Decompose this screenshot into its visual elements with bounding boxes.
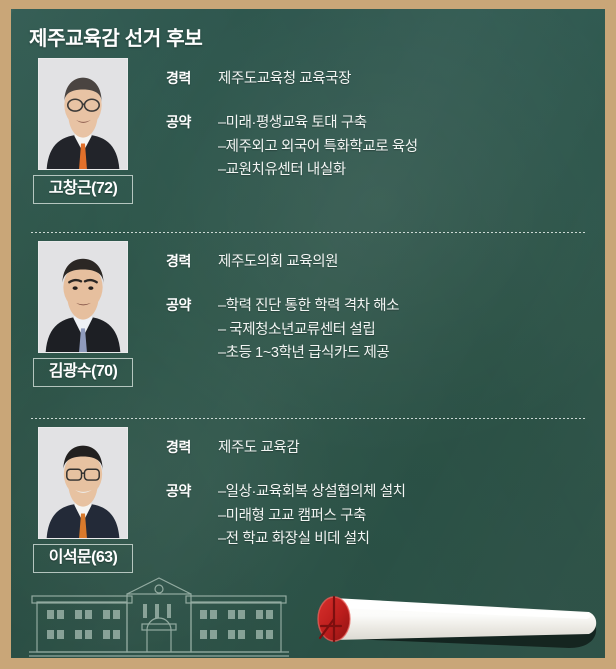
pledge-row: 공약 –일상·교육회복 상설협의체 설치 –미래형 고교 캠퍼스 구축 –전 학…	[166, 481, 589, 551]
pledge-list: –미래·평생교육 토대 구축 –제주외고 외국어 특화학교로 육성 –교원치유센…	[218, 112, 418, 182]
candidate-photo	[38, 58, 128, 170]
candidate-photo	[38, 427, 128, 539]
pledge-item: –미래·평생교육 토대 구축	[218, 112, 418, 135]
pledge-row: 공약 –학력 진단 통한 학력 격차 해소 – 국제청소년교류센터 설립 –초등…	[166, 295, 589, 365]
career-value: 제주도 교육감	[218, 437, 299, 459]
pledge-item: –학력 진단 통한 학력 격차 해소	[218, 295, 399, 318]
chalkboard: 제주교육감 선거 후보	[11, 9, 605, 658]
candidate-name: 김광수(70)	[33, 358, 133, 387]
candidate-name: 고창근(72)	[33, 175, 133, 204]
pledge-list: –일상·교육회복 상설협의체 설치 –미래형 고교 캠퍼스 구축 –전 학교 화…	[218, 481, 406, 551]
section-divider	[31, 418, 587, 419]
career-row: 경력 제주도의회 교육의원	[166, 251, 589, 273]
candidate-info: 경력 제주도의회 교육의원 공약 –학력 진단 통한 학력 격차 해소 – 국제…	[166, 241, 589, 366]
pledge-item: –제주외고 외국어 특화학교로 육성	[218, 136, 418, 159]
pledge-label: 공약	[166, 481, 218, 503]
pledge-item: –교원치유센터 내실화	[218, 159, 418, 182]
pledge-item: – 국제청소년교류센터 설립	[218, 319, 399, 342]
candidate-info: 경력 제주도 교육감 공약 –일상·교육회복 상설협의체 설치 –미래형 고교 …	[166, 427, 589, 552]
pledge-item: –전 학교 화장실 비데 설치	[218, 528, 406, 551]
diploma-scroll-icon	[307, 576, 605, 656]
pledge-label: 공약	[166, 112, 218, 134]
pledge-item: –초등 1~3학년 급식카드 제공	[218, 342, 399, 365]
candidate-portrait-block: 김광수(70)	[31, 241, 135, 387]
career-value: 제주도교육청 교육국장	[218, 68, 351, 90]
candidate-portrait-block: 이석문(63)	[31, 427, 135, 573]
infographic-root: 제주교육감 선거 후보	[0, 0, 616, 669]
school-building-icon	[25, 576, 293, 658]
pledge-list: –학력 진단 통한 학력 격차 해소 – 국제청소년교류센터 설립 –초등 1~…	[218, 295, 399, 365]
career-row: 경력 제주도 교육감	[166, 437, 589, 459]
career-label: 경력	[166, 251, 218, 273]
career-label: 경력	[166, 437, 218, 459]
candidate-photo	[38, 241, 128, 353]
pledge-label: 공약	[166, 295, 218, 317]
candidate-info: 경력 제주도교육청 교육국장 공약 –미래·평생교육 토대 구축 –제주외고 외…	[166, 58, 589, 183]
candidate-name: 이석문(63)	[33, 544, 133, 573]
pledge-item: –미래형 고교 캠퍼스 구축	[218, 505, 406, 528]
candidate-portrait-block: 고창근(72)	[31, 58, 135, 204]
section-divider	[31, 232, 587, 233]
career-value: 제주도의회 교육의원	[218, 251, 338, 273]
career-label: 경력	[166, 68, 218, 90]
pledge-row: 공약 –미래·평생교육 토대 구축 –제주외고 외국어 특화학교로 육성 –교원…	[166, 112, 589, 182]
page-title: 제주교육감 선거 후보	[29, 22, 202, 51]
pledge-item: –일상·교육회복 상설협의체 설치	[218, 481, 406, 504]
career-row: 경력 제주도교육청 교육국장	[166, 68, 589, 90]
